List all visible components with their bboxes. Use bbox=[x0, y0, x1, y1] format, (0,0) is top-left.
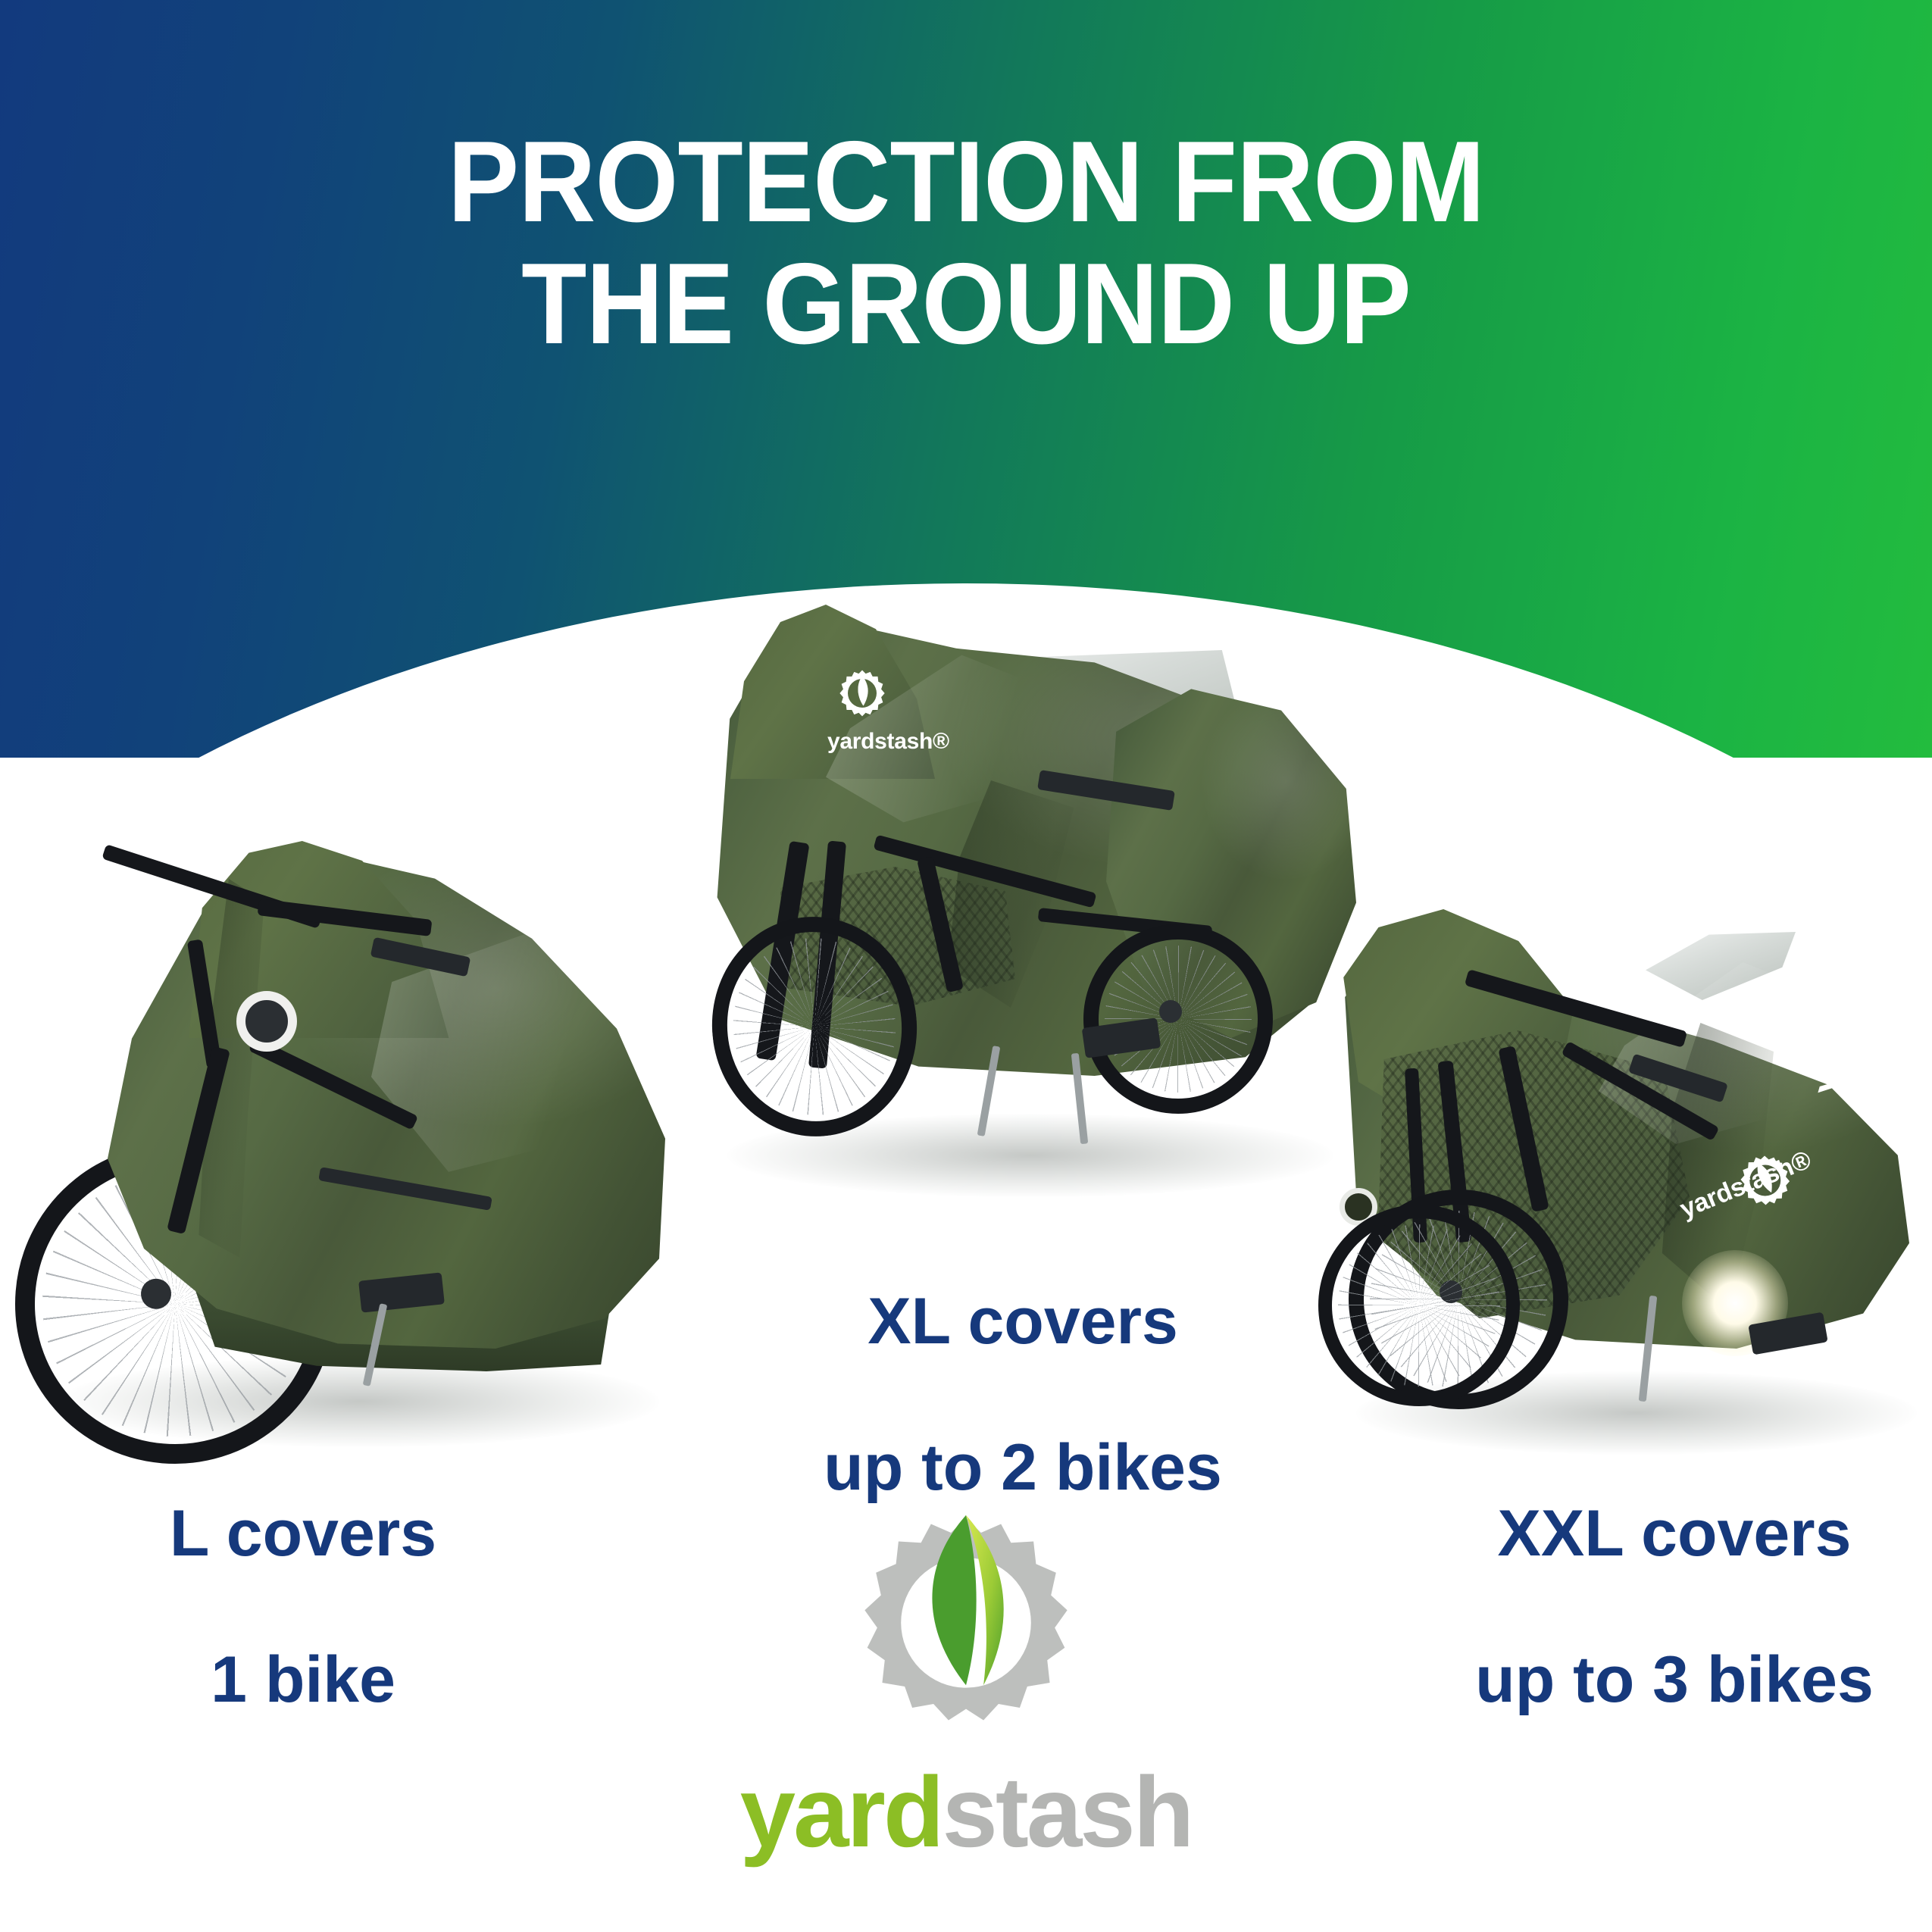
bike-wheel-second bbox=[1318, 1205, 1520, 1406]
title-line-1: PROTECTION FROM bbox=[67, 121, 1865, 243]
product-image-size-xl: yardstash® bbox=[682, 591, 1364, 1212]
brand-logo: yardstash bbox=[0, 1508, 1932, 1862]
wheel-spokes bbox=[1338, 1224, 1500, 1386]
brand-wordmark: yardstash bbox=[0, 1762, 1932, 1862]
brand-word-secondary: stash bbox=[943, 1756, 1193, 1868]
product-image-size-xxl: yardstash® XXL bbox=[1326, 871, 1932, 1462]
bike-bell bbox=[236, 991, 297, 1052]
caption-line-1: XL covers bbox=[758, 1285, 1288, 1358]
cover-brand-registered: ® bbox=[933, 729, 949, 754]
yardstash-emblem-icon bbox=[833, 667, 891, 724]
wheel-hub bbox=[1159, 1000, 1182, 1023]
bike-wheel-rear bbox=[1083, 924, 1273, 1114]
brand-word-primary: yard bbox=[740, 1756, 943, 1868]
wheel-spokes bbox=[724, 930, 904, 1123]
marketing-image: PROTECTION FROM THE GROUND UP bbox=[0, 0, 1932, 1932]
cover-brand-text: yardstash bbox=[827, 729, 933, 754]
page-title: PROTECTION FROM THE GROUND UP bbox=[67, 121, 1865, 365]
product-image-size-l bbox=[15, 826, 682, 1455]
cover-brand-label: yardstash® bbox=[827, 729, 949, 755]
caption-line-2: up to 2 bikes bbox=[758, 1431, 1288, 1504]
gear-leaf-logo-icon bbox=[841, 1508, 1091, 1758]
title-line-2: THE GROUND UP bbox=[67, 243, 1865, 365]
